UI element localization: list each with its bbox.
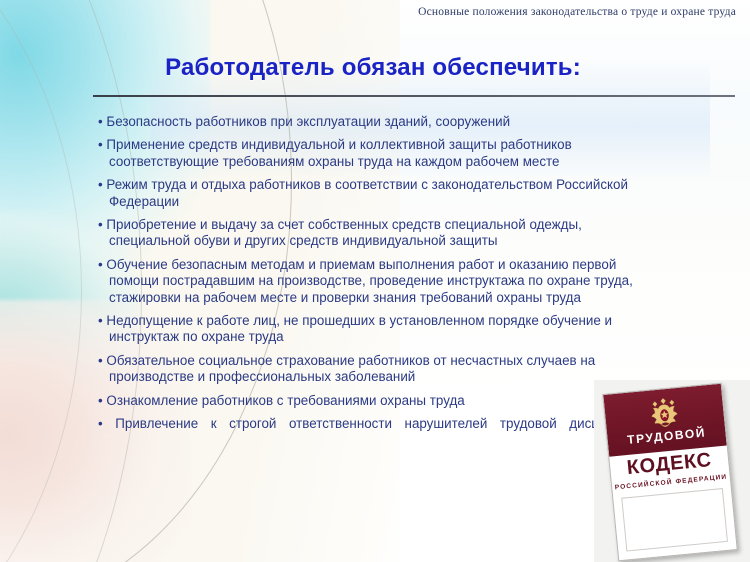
- list-item: • Безопасность работников при эксплуатац…: [98, 114, 646, 130]
- list-item: • Применение средств индивидуальной и ко…: [98, 137, 646, 170]
- labour-code-book-image: ТРУДОВОЙ КОДЕКС РОССИЙСКОЙ ФЕДЕРАЦИИ: [594, 380, 750, 562]
- title-divider-rule: [93, 95, 735, 97]
- list-item: • Обязательное социальное страхование ра…: [98, 353, 646, 386]
- list-item: • Приобретение и выдачу за счет собствен…: [98, 217, 646, 250]
- list-item: • Обучение безопасным методам и приемам …: [98, 257, 646, 306]
- list-item: • Ознакомление работников с требованиями…: [98, 393, 646, 409]
- book-cover: ТРУДОВОЙ КОДЕКС РОССИЙСКОЙ ФЕДЕРАЦИИ: [602, 383, 738, 562]
- presentation-slide: Основные положения законодательства о тр…: [0, 0, 750, 562]
- bullet-list: • Безопасность работников при эксплуатац…: [98, 114, 646, 449]
- slide-title: Работодатель обязан обеспечить:: [93, 54, 653, 82]
- list-item: • Привлечение к строгой ответственности …: [98, 416, 646, 449]
- book-cover-frame: [621, 488, 728, 552]
- list-item: • Режим труда и отдыха работников в соот…: [98, 177, 646, 210]
- list-item: • Недопущение к работе лиц, не прошедших…: [98, 313, 646, 346]
- slide-running-header: Основные положения законодательства о тр…: [418, 6, 736, 18]
